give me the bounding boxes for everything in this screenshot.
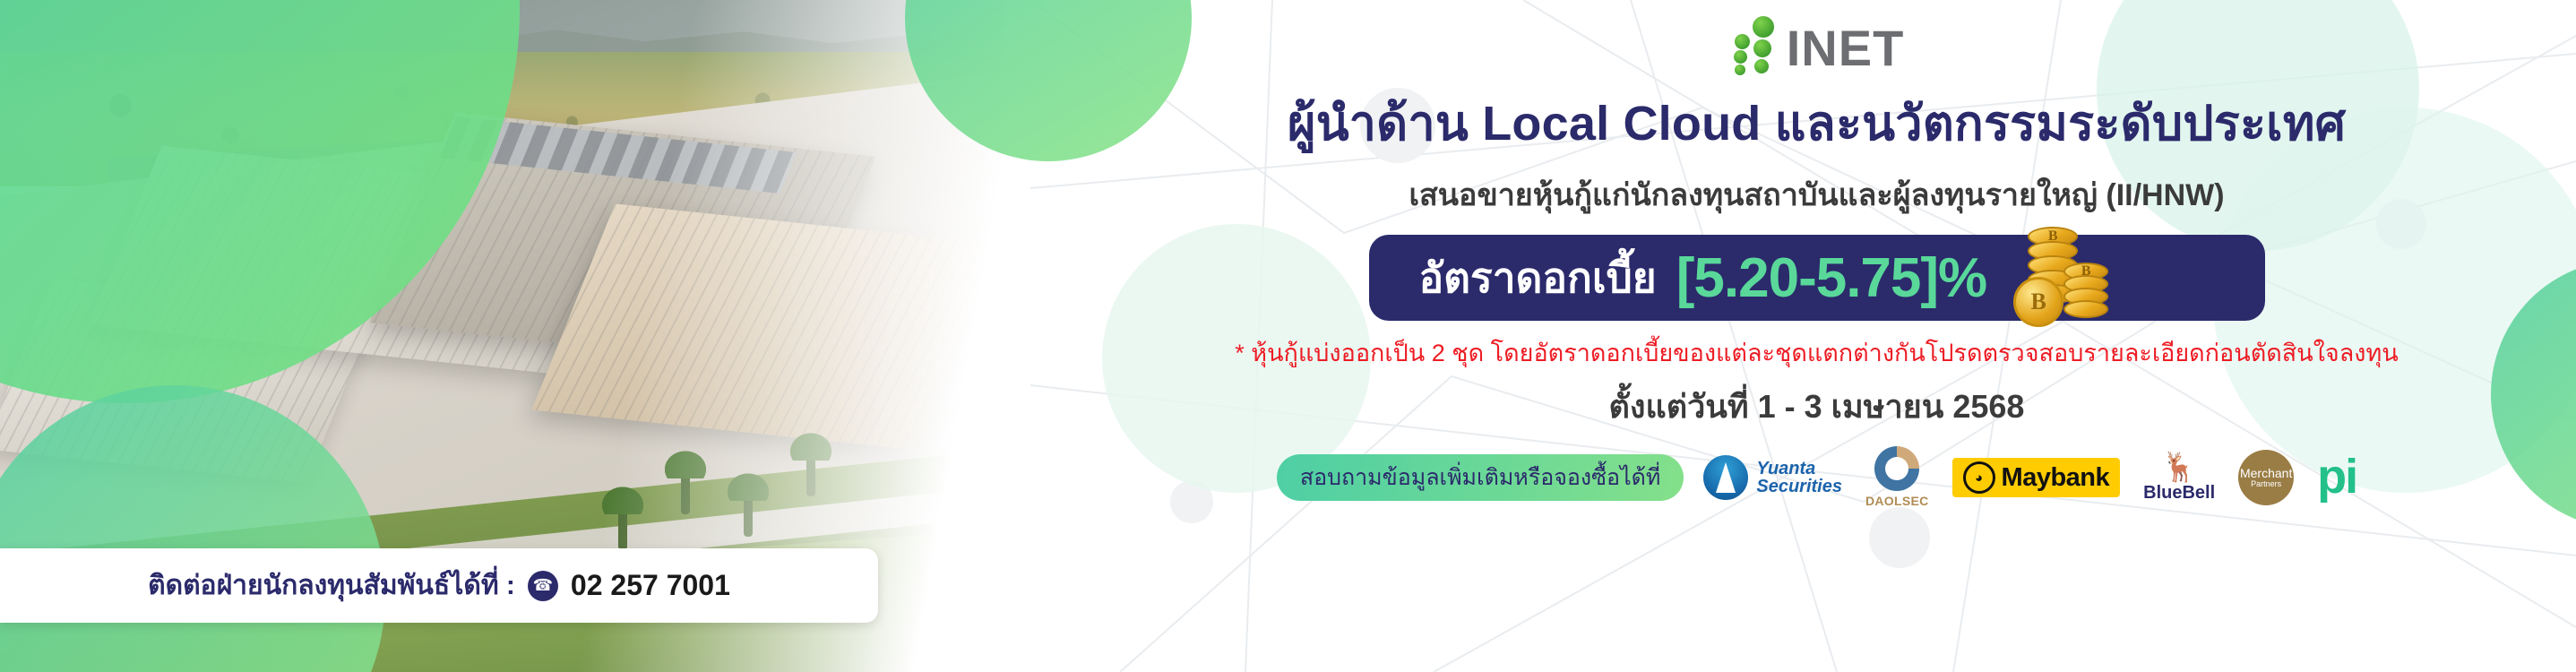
pi-wordmark-icon: pi	[2317, 458, 2356, 496]
gold-coin-stack-icon: B B B	[2012, 221, 2110, 320]
broker-logo-daol[interactable]: DAOLSEC	[1865, 446, 1929, 509]
yuanta-line1: Yuanta	[1756, 460, 1842, 478]
inet-logo: INET	[1729, 13, 1905, 72]
daol-word1: DAOL	[1865, 494, 1902, 508]
phone-icon: ☎	[528, 571, 558, 601]
green-dot-cluster-icon	[1729, 13, 1785, 72]
broker-logos-list: Yuanta Securities DAOLSEC	[1703, 446, 2356, 509]
interest-rate-banner: อัตราดอกเบี้ย [5.20-5.75]% B B	[1369, 235, 2265, 321]
broker-logo-maybank[interactable]: ◕ Maybank	[1952, 446, 2121, 509]
daol-pie-chart-icon	[1874, 446, 1919, 491]
broker-logo-bluebell[interactable]: 🦌 BlueBell	[2143, 446, 2215, 509]
interest-rate-value: [5.20-5.75]%	[1676, 246, 1986, 310]
main-content-column: INET ผู้นำด้าน Local Cloud และนวัตกรรมระ…	[1057, 0, 2576, 672]
bluebell-wordmark: BlueBell	[2143, 483, 2215, 504]
broker-logo-merchant-partners[interactable]: Merchant Partners	[2238, 446, 2294, 509]
yuanta-star-circle-icon	[1703, 455, 1748, 500]
disclaimer-text: * หุ้นกู้แบ่งออกเป็น 2 ชุด โดยอัตราดอกเบ…	[1235, 333, 2398, 372]
subtitle: เสนอขายหุ้นกู้แก่นักลงทุนสถาบันและผู้ลงท…	[1409, 170, 2224, 219]
cta-label: สอบถามข้อมูลเพิ่มเติมหรือจองซื้อได้ที่	[1300, 460, 1661, 495]
merchant-word2: Partners	[2251, 480, 2281, 488]
contact-phone-number[interactable]: 02 257 7001	[571, 569, 730, 602]
offering-date: ตั้งแต่วันที่ 1 - 3 เมษายน 2568	[1609, 381, 2025, 432]
yuanta-line2: Securities	[1756, 478, 1842, 495]
bluebell-deer-icon: 🦌	[2161, 452, 2197, 481]
daol-word2: SEC	[1902, 494, 1929, 508]
page-title: ผู้นำด้าน Local Cloud และนวัตกรรมระดับปร…	[1288, 84, 2346, 161]
inquiry-cta-button[interactable]: สอบถามข้อมูลเพิ่มเติมหรือจองซื้อได้ที่	[1277, 454, 1684, 501]
merchant-circle-icon: Merchant Partners	[2238, 450, 2294, 505]
inet-bond-offering-banner: INET ผู้นำด้าน Local Cloud และนวัตกรรมระ…	[0, 0, 2576, 672]
interest-rate-label: อัตราดอกเบี้ย	[1419, 246, 1657, 311]
broker-logo-pi[interactable]: pi	[2317, 446, 2356, 509]
contact-label: ติดต่อฝ่ายนักลงทุนสัมพันธ์ได้ที่ :	[148, 564, 515, 607]
merchant-word1: Merchant	[2240, 467, 2292, 480]
cta-and-brokers-row: สอบถามข้อมูลเพิ่มเติมหรือจองซื้อได้ที่ Y…	[1057, 446, 2576, 509]
maybank-tiger-head-icon: ◕	[1963, 461, 1995, 494]
investor-relations-contact-box: ติดต่อฝ่ายนักลงทุนสัมพันธ์ได้ที่ : ☎ 02 …	[0, 548, 878, 623]
inet-wordmark: INET	[1787, 24, 1905, 72]
maybank-wordmark: Maybank	[2002, 463, 2110, 493]
broker-logo-yuanta[interactable]: Yuanta Securities	[1703, 446, 1842, 509]
